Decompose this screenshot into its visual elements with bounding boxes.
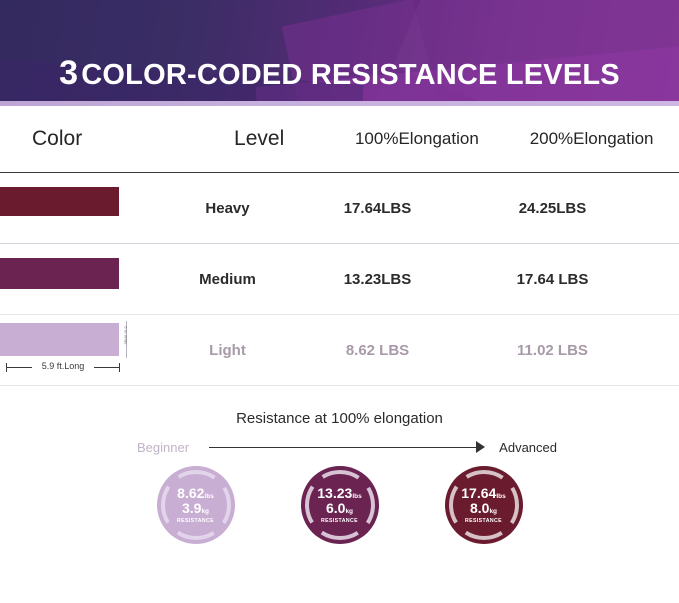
badge-lbs-unit-light: lbs xyxy=(204,493,213,500)
resistance-badge-heavy: 17.64lbs 8.0kg RESISTANCE xyxy=(445,466,523,544)
badge-lbs-value-light: 8.62 xyxy=(177,485,204,501)
resistance-badge-medium: 13.23lbs 6.0kg RESISTANCE xyxy=(301,466,379,544)
cell-level-heavy: Heavy xyxy=(165,200,290,217)
badge-caption-light: RESISTANCE xyxy=(177,518,214,524)
badge-kg-unit-light: kg xyxy=(201,508,209,515)
page-title: 3COLOR-CODED RESISTANCE LEVELS xyxy=(0,54,679,93)
badge-lbs-value-medium: 13.23 xyxy=(317,485,352,501)
column-header-elongation-200: 200%Elongation xyxy=(504,129,679,149)
badge-lbs-medium: 13.23lbs xyxy=(317,486,361,501)
column-header-color: Color xyxy=(0,127,197,151)
cell-elongation100-heavy: 17.64LBS xyxy=(290,200,465,217)
badge-caption-heavy: RESISTANCE xyxy=(465,518,502,524)
badge-lbs-unit-medium: lbs xyxy=(352,493,361,500)
column-header-elongation-100: 100%Elongation xyxy=(330,129,505,149)
badge-content-heavy: 17.64lbs 8.0kg RESISTANCE xyxy=(456,477,512,533)
cell-level-medium: Medium xyxy=(165,271,290,288)
band-swatch-medium xyxy=(0,258,119,289)
band-swatch-heavy xyxy=(0,187,119,216)
column-header-level: Level xyxy=(197,127,330,151)
color-swatch-cell-medium xyxy=(0,244,165,314)
scale-end-label: Advanced xyxy=(499,440,557,455)
scale-title: Resistance at 100% elongation xyxy=(0,410,679,427)
band-swatch-light xyxy=(0,323,119,356)
badge-kg-light: 3.9kg xyxy=(182,501,209,516)
scale-line xyxy=(209,447,479,448)
cell-elongation200-light: 11.02 LBS xyxy=(465,342,640,359)
color-swatch-cell-light: 6 in.Wide 5.9 ft.Long xyxy=(0,315,165,385)
resistance-scale-section: Resistance at 100% elongation Beginner A… xyxy=(0,408,679,598)
page-title-number: 3 xyxy=(59,54,78,92)
dimension-length-cap-left xyxy=(6,363,7,372)
badge-lbs-unit-heavy: lbs xyxy=(496,493,505,500)
page-title-text: COLOR-CODED RESISTANCE LEVELS xyxy=(81,59,620,91)
cell-elongation100-light: 8.62 LBS xyxy=(290,342,465,359)
badge-lbs-heavy: 17.64lbs xyxy=(461,486,505,501)
badge-content-medium: 13.23lbs 6.0kg RESISTANCE xyxy=(312,477,368,533)
row-divider-3 xyxy=(0,385,679,386)
badge-kg-value-heavy: 8.0 xyxy=(470,500,489,516)
scale-axis: Beginner Advanced xyxy=(137,438,557,458)
cell-elongation100-medium: 13.23LBS xyxy=(290,271,465,288)
table-row: Heavy 17.64LBS 24.25LBS xyxy=(0,173,679,243)
cell-elongation200-medium: 17.64 LBS xyxy=(465,271,640,288)
badge-kg-value-medium: 6.0 xyxy=(326,500,345,516)
badge-kg-heavy: 8.0kg xyxy=(470,501,497,516)
arrow-right-icon xyxy=(476,441,485,453)
badge-caption-medium: RESISTANCE xyxy=(321,518,358,524)
table-row: 6 in.Wide 5.9 ft.Long Light 8.62 LBS 11.… xyxy=(0,315,679,385)
table-row: Medium 13.23LBS 17.64 LBS xyxy=(0,244,679,314)
dimension-length-label: 5.9 ft.Long xyxy=(32,361,94,371)
dimension-length-annotation: 5.9 ft.Long xyxy=(0,360,126,376)
scale-start-label: Beginner xyxy=(137,440,189,455)
badge-kg-value-light: 3.9 xyxy=(182,500,201,516)
cell-elongation200-heavy: 24.25LBS xyxy=(465,200,640,217)
badge-lbs-value-heavy: 17.64 xyxy=(461,485,496,501)
badge-content-light: 8.62lbs 3.9kg RESISTANCE xyxy=(168,477,224,533)
cell-level-light: Light xyxy=(165,342,290,359)
table-header-row: Color Level 100%Elongation 200%Elongatio… xyxy=(0,106,679,172)
resistance-badge-light: 8.62lbs 3.9kg RESISTANCE xyxy=(157,466,235,544)
badge-group: 8.62lbs 3.9kg RESISTANCE 13.23lbs 6.0kg … xyxy=(0,466,679,544)
dimension-width-annotation: 6 in.Wide xyxy=(119,321,133,358)
badge-lbs-light: 8.62lbs xyxy=(177,486,214,501)
dimension-width-label: 6 in.Wide xyxy=(124,318,129,354)
header-banner: 3COLOR-CODED RESISTANCE LEVELS xyxy=(0,0,679,106)
color-swatch-cell-heavy xyxy=(0,173,165,243)
badge-kg-medium: 6.0kg xyxy=(326,501,353,516)
resistance-table: Color Level 100%Elongation 200%Elongatio… xyxy=(0,106,679,386)
badge-kg-unit-medium: kg xyxy=(345,508,353,515)
badge-kg-unit-heavy: kg xyxy=(489,508,497,515)
dimension-length-cap-right xyxy=(119,363,120,372)
